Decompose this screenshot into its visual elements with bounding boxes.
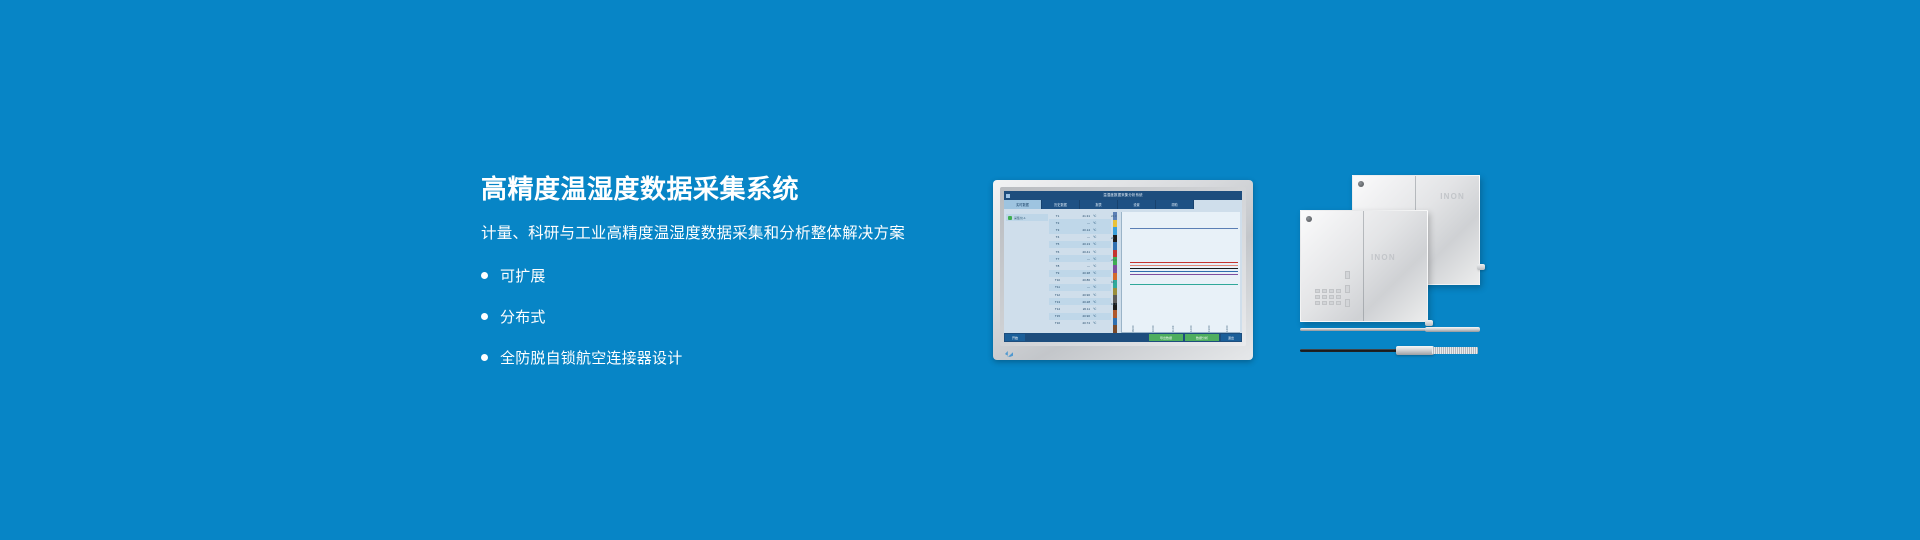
y-tick-label: 20.0 (1111, 258, 1116, 262)
terminal-block-icon (1315, 289, 1341, 305)
table-row[interactable]: T11---℃ (1049, 284, 1111, 291)
cell-value: 20.90 (1066, 293, 1093, 297)
y-tick-label: 18 (1111, 280, 1114, 284)
tab-help[interactable]: 帮助 (1156, 200, 1194, 209)
y-tick-label: 24.0 (1111, 214, 1116, 218)
table-row[interactable]: T7---℃ (1049, 255, 1111, 262)
table-row[interactable]: T920.38℃ (1049, 270, 1111, 277)
cell-value: 20.11 (1066, 307, 1093, 311)
legend-swatch (1113, 318, 1117, 326)
x-tick-label: 12:00 (1190, 326, 1199, 333)
legend-swatch (1113, 288, 1117, 296)
cell-unit: ℃ (1093, 293, 1105, 297)
cell-unit: ℃ (1093, 228, 1105, 232)
cell-unit: ℃ (1093, 285, 1105, 289)
y-tick-label: 16.0 (1111, 302, 1116, 306)
feature-list: 可扩展 分布式 全防脱自锁航空连接器设计 (481, 265, 1001, 368)
tab-settings[interactable]: 设置 (1118, 200, 1156, 209)
x-tick-label: 09:00 (1132, 326, 1141, 333)
probe-tip (1425, 327, 1480, 332)
feature-item: 全防脱自锁航空连接器设计 (481, 347, 1001, 368)
legend-swatch (1113, 227, 1117, 235)
cell-unit: ℃ (1093, 307, 1105, 311)
exit-button[interactable]: 退出 (1221, 334, 1241, 341)
legend-swatch (1113, 265, 1117, 273)
table-row[interactable]: T8---℃ (1049, 262, 1111, 269)
y-tick-label: 22 (1111, 236, 1114, 240)
screw-icon (1306, 216, 1312, 222)
cell-channel: T8 (1049, 264, 1066, 268)
legend-swatch (1113, 220, 1117, 228)
cell-value: --- (1066, 257, 1093, 261)
cell-channel: T4 (1049, 235, 1066, 239)
cell-unit: ℃ (1093, 257, 1105, 261)
screen-tab-bar: 实时数据 历史数据 报表 设置 帮助 (1004, 200, 1242, 209)
probe-cable (1300, 349, 1400, 352)
cell-unit: ℃ (1093, 321, 1105, 325)
bullet-dot-icon (481, 272, 488, 279)
export-data-button[interactable]: 导出数据 (1149, 334, 1183, 341)
legend-swatch (1113, 273, 1117, 281)
tab-bar-filler (1194, 200, 1242, 209)
cell-value: 20.41 (1066, 250, 1093, 254)
series-line (1130, 228, 1238, 229)
data-analysis-button[interactable]: 数据分析 (1185, 334, 1219, 341)
cell-unit: ℃ (1093, 250, 1105, 254)
table-row[interactable]: T520.13℃ (1049, 241, 1111, 248)
series-line (1130, 262, 1238, 263)
cell-value: 20.90 (1066, 314, 1093, 318)
bullet-dot-icon (481, 354, 488, 361)
cell-channel: T1 (1049, 214, 1066, 218)
cell-value: --- (1066, 285, 1093, 289)
screen-content: 采集仪-1 T121.31℃ T2---℃ T320.14℃ T4---℃ T5… (1004, 209, 1242, 333)
cell-value: 20.28 (1066, 300, 1093, 304)
table-row[interactable]: T121.31℃ (1049, 212, 1111, 219)
screen-bottom-toolbar: 开始 导出数据 数据分析 退出 (1004, 333, 1242, 342)
monitor-device: 温湿度数据采集分析系统 实时数据 历史数据 报表 设置 帮助 采集仪-1 (993, 180, 1253, 360)
window-title: 温湿度数据采集分析系统 (1004, 191, 1242, 200)
screw-icon (1358, 181, 1364, 187)
screen-title-bar: 温湿度数据采集分析系统 (1004, 191, 1242, 200)
cell-value: 21.31 (1066, 214, 1093, 218)
tab-report[interactable]: 报表 (1080, 200, 1118, 209)
feature-label: 分布式 (500, 306, 546, 327)
cell-channel: T14 (1049, 307, 1066, 311)
x-tick-label: 13:00 (1208, 326, 1217, 333)
cell-unit: ℃ (1093, 214, 1105, 218)
cell-unit: ℃ (1093, 242, 1105, 246)
brand-label: INON (1371, 253, 1396, 262)
table-row[interactable]: T1420.11℃ (1049, 305, 1111, 312)
legend-swatch (1113, 310, 1117, 318)
start-button[interactable]: 开始 (1005, 334, 1025, 341)
cell-channel: T10 (1049, 278, 1066, 282)
cell-channel: T9 (1049, 271, 1066, 275)
cell-value: 20.13 (1066, 242, 1093, 246)
table-row[interactable]: T2---℃ (1049, 219, 1111, 226)
cell-unit: ℃ (1093, 235, 1105, 239)
legend-swatch (1113, 250, 1117, 258)
cell-value: 20.38 (1066, 271, 1093, 275)
tab-realtime-data[interactable]: 实时数据 (1004, 200, 1042, 209)
table-row[interactable]: T4---℃ (1049, 234, 1111, 241)
feature-item: 可扩展 (481, 265, 1001, 286)
cell-value: --- (1066, 235, 1093, 239)
aviation-connector-cable-probe (1300, 345, 1480, 357)
table-row[interactable]: T1320.28℃ (1049, 298, 1111, 305)
panel-seam (1363, 211, 1364, 321)
cell-unit: ℃ (1093, 300, 1105, 304)
table-row[interactable]: T1020.86℃ (1049, 277, 1111, 284)
cell-value: --- (1066, 221, 1093, 225)
x-tick-label: 14:00 (1226, 326, 1235, 333)
probe-barrel (1432, 347, 1478, 354)
table-row[interactable]: T1220.90℃ (1049, 291, 1111, 298)
monitor-screen: 温湿度数据采集分析系统 实时数据 历史数据 报表 设置 帮助 采集仪-1 (1004, 191, 1242, 342)
sidebar-item-label: 采集仪-1 (1014, 216, 1026, 220)
legend-swatch (1113, 325, 1117, 333)
table-row[interactable]: T620.41℃ (1049, 248, 1111, 255)
cell-value: --- (1066, 264, 1093, 268)
tab-history-data[interactable]: 历史数据 (1042, 200, 1080, 209)
device-status-icon (1008, 216, 1012, 220)
cell-unit: ℃ (1093, 278, 1105, 282)
cell-channel: T2 (1049, 221, 1066, 225)
cell-unit: ℃ (1093, 314, 1105, 318)
aviation-connector (1396, 346, 1434, 355)
enclosure-front-unit: INON (1300, 210, 1428, 322)
bullet-dot-icon (481, 313, 488, 320)
series-line (1130, 268, 1238, 269)
cell-channel: T11 (1049, 285, 1066, 289)
series-line (1130, 271, 1238, 272)
cell-channel: T15 (1049, 314, 1066, 318)
hero-subtitle: 计量、科研与工业高精度温湿度数据采集和分析整体解决方案 (481, 221, 1001, 243)
cell-channel: T7 (1049, 257, 1066, 261)
x-tick-label: 11:00 (1172, 326, 1181, 332)
page-title: 高精度温湿度数据采集系统 (481, 175, 1001, 204)
x-tick-label: 10:00 (1152, 326, 1161, 333)
hero-copy: 高精度温湿度数据采集系统 计量、科研与工业高精度温湿度数据采集和分析整体解决方案… (481, 175, 1001, 388)
monitor-inner-bezel: 温湿度数据采集分析系统 实时数据 历史数据 报表 设置 帮助 采集仪-1 (1000, 187, 1246, 346)
feature-label: 全防脱自锁航空连接器设计 (500, 347, 682, 368)
cell-channel: T6 (1049, 250, 1066, 254)
probe-shaft (1300, 328, 1432, 331)
cell-channel: T12 (1049, 293, 1066, 297)
table-row[interactable]: T1620.74℃ (1049, 320, 1111, 327)
screen-sidebar: 采集仪-1 (1006, 212, 1048, 333)
port-column-icon (1345, 271, 1350, 307)
legend-swatch (1113, 242, 1117, 250)
hardware-group: INON INON (1300, 175, 1480, 360)
cell-channel: T13 (1049, 300, 1066, 304)
channel-table: T121.31℃ T2---℃ T320.14℃ T4---℃ T520.13℃… (1049, 212, 1111, 333)
trend-chart[interactable]: 24.0 22 20.0 18 16.0 09:00 10:00 11:00 1… (1121, 212, 1240, 333)
cell-channel: T16 (1049, 321, 1066, 325)
channel-color-legend (1113, 212, 1117, 333)
cell-value: 20.14 (1066, 228, 1093, 232)
cell-value: 20.86 (1066, 278, 1093, 282)
cell-channel: T3 (1049, 228, 1066, 232)
connector-port (1477, 264, 1485, 270)
cell-unit: ℃ (1093, 221, 1105, 225)
brand-label: INON (1440, 192, 1465, 201)
series-line (1130, 265, 1238, 266)
cell-unit: ℃ (1093, 271, 1105, 275)
feature-label: 可扩展 (500, 265, 546, 286)
stainless-steel-probe (1300, 327, 1480, 333)
feature-item: 分布式 (481, 306, 1001, 327)
cell-unit: ℃ (1093, 264, 1105, 268)
series-line (1130, 284, 1238, 285)
connector-port (1425, 320, 1433, 326)
series-line (1130, 274, 1238, 275)
sidebar-item-collector-1[interactable]: 采集仪-1 (1006, 214, 1048, 221)
cell-value: 20.74 (1066, 321, 1093, 325)
table-row[interactable]: T320.14℃ (1049, 226, 1111, 233)
table-row[interactable]: T1520.90℃ (1049, 313, 1111, 320)
cell-channel: T5 (1049, 242, 1066, 246)
